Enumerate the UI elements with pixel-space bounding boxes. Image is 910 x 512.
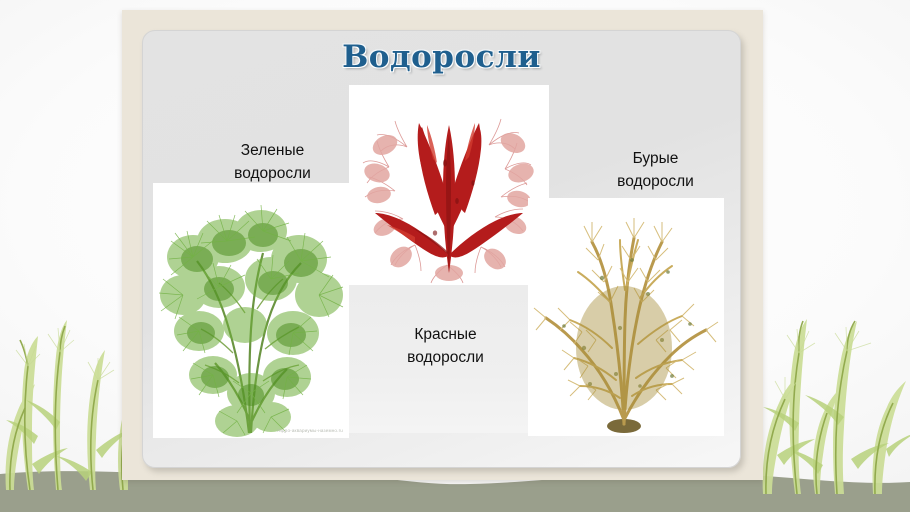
red-algae-illustration xyxy=(349,85,549,285)
slide-canvas: Водоросли xyxy=(0,0,910,512)
label-red-algae: Красные водоросли xyxy=(358,323,533,369)
label-green-algae: Зеленые водоросли xyxy=(185,139,360,185)
content-card: Водоросли xyxy=(142,30,741,468)
photo-brown-algae xyxy=(528,198,724,436)
brown-algae-illustration xyxy=(528,198,724,436)
photo-red-algae xyxy=(349,85,549,285)
photo-watermark: гидро-аквариумы-наземно.ru xyxy=(277,428,343,433)
photo-green-algae: гидро-аквариумы-наземно.ru xyxy=(153,183,349,438)
page-title: Водоросли xyxy=(143,39,740,75)
label-brown-algae: Бурые водоросли xyxy=(568,147,741,193)
green-algae-illustration xyxy=(153,183,349,438)
